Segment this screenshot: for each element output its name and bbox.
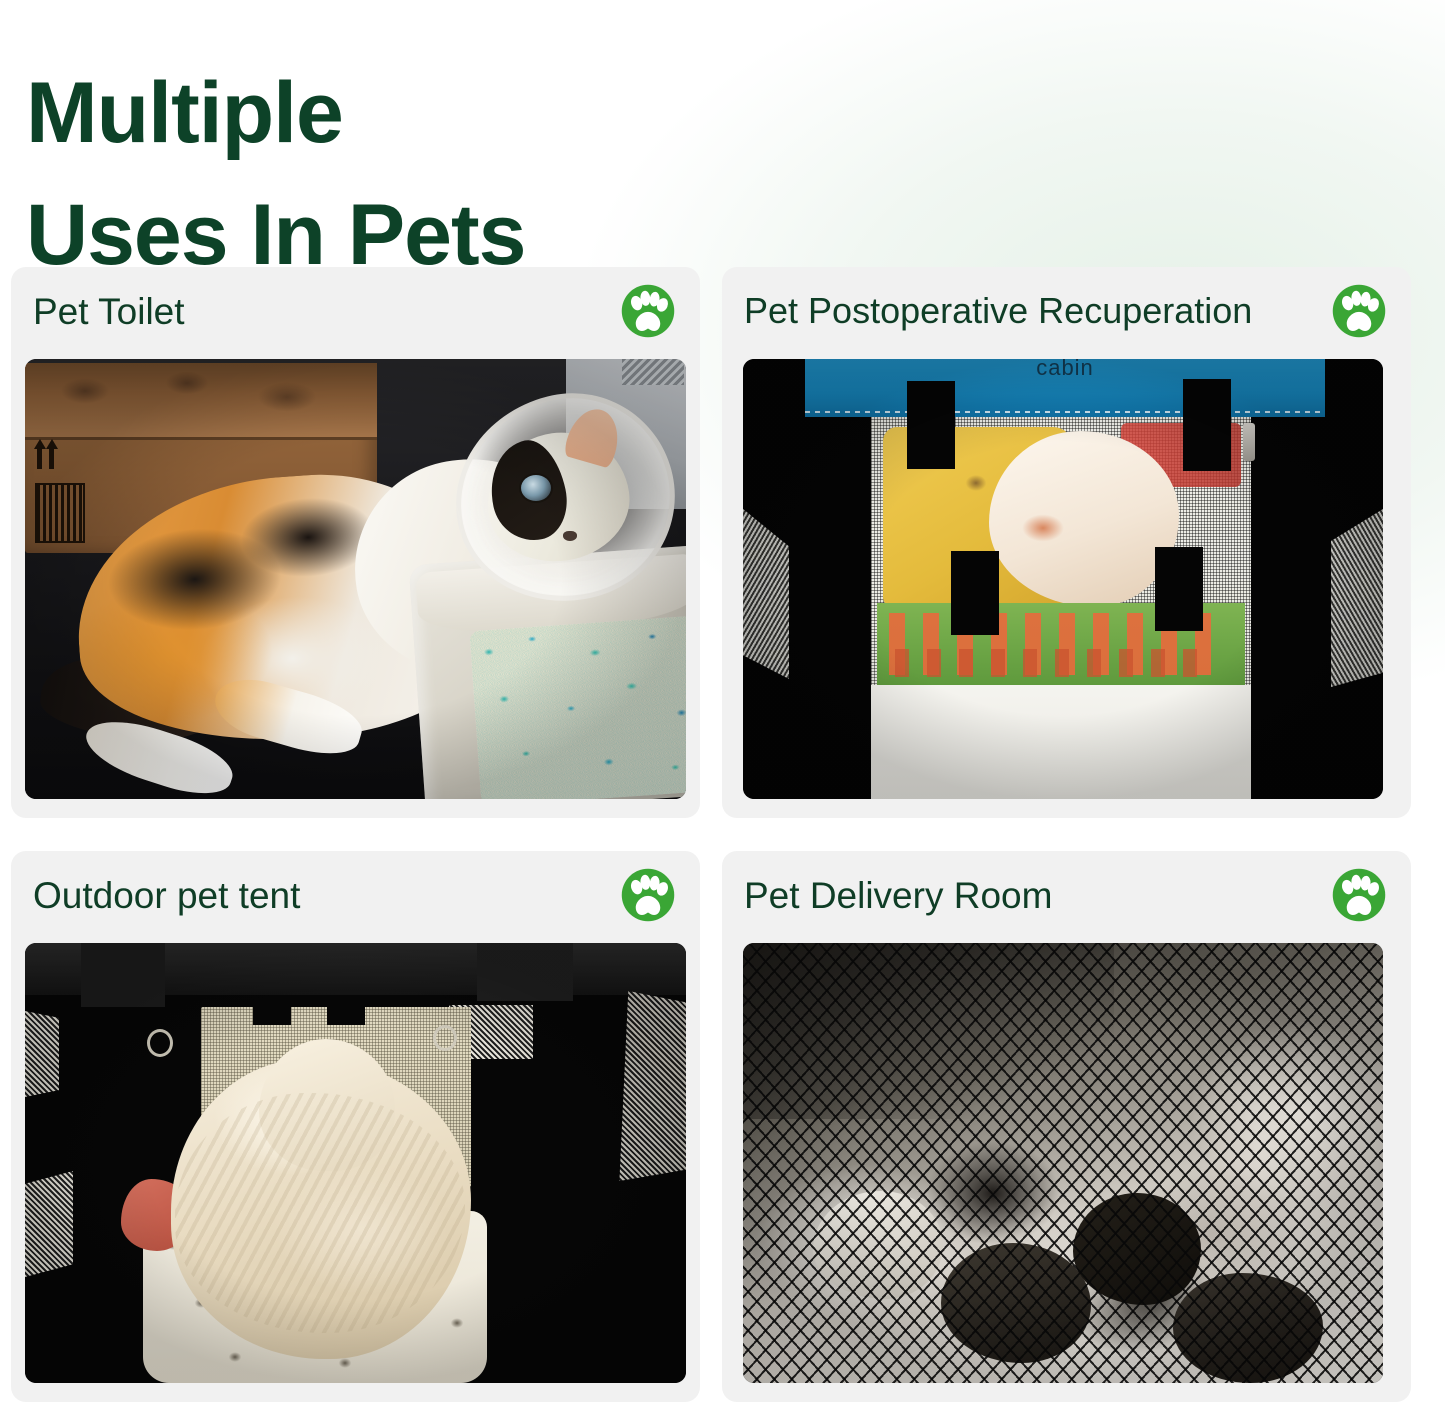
card-header: Pet Postoperative Recuperation xyxy=(722,267,1411,355)
barcode-label xyxy=(35,483,85,543)
product-feature-page: Multiple Uses In Pets Pet Toilet xyxy=(0,0,1445,1414)
tent-door-tab xyxy=(327,1007,365,1025)
card-title: Outdoor pet tent xyxy=(33,877,620,914)
stitching-line xyxy=(805,411,1325,413)
page-title: Multiple Uses In Pets xyxy=(26,52,786,296)
side-mesh-left xyxy=(743,509,789,679)
card-title: Pet Postoperative Recuperation xyxy=(744,293,1331,329)
feature-card-pet-toilet[interactable]: Pet Toilet xyxy=(11,267,700,818)
paw-print-icon xyxy=(1331,867,1387,923)
card-photo-outdoor-pet-tent xyxy=(25,943,686,1383)
paw-print-icon xyxy=(620,867,676,923)
carrier-strap xyxy=(951,551,999,635)
tent-side-mesh xyxy=(612,991,686,1181)
card-photo-pet-toilet xyxy=(25,359,686,799)
tent-top-strap xyxy=(81,943,165,1007)
card-photo-pet-delivery-room xyxy=(743,943,1383,1383)
tent-side-mesh xyxy=(25,1011,59,1097)
pet-marking xyxy=(1017,511,1069,545)
cat-eye xyxy=(521,475,551,501)
card-title: Pet Toilet xyxy=(33,293,620,330)
paw-print-icon xyxy=(620,283,676,339)
tent-top-strap xyxy=(477,943,573,1001)
diamond-mesh-screen xyxy=(743,943,1383,1383)
carrier-strap xyxy=(1183,379,1231,471)
this-side-up-arrows-icon xyxy=(37,439,63,469)
card-header: Pet Delivery Room xyxy=(722,851,1411,939)
tent-d-ring xyxy=(147,1029,173,1057)
page-title-line-1: Multiple xyxy=(26,65,343,161)
card-title: Pet Delivery Room xyxy=(744,877,1331,914)
carrier-strap xyxy=(907,381,955,469)
tent-door-tab xyxy=(253,1007,291,1025)
crystal-cat-litter xyxy=(469,615,686,799)
carrier-strap xyxy=(1155,547,1203,631)
white-cloth xyxy=(871,685,1251,799)
paw-print-icon xyxy=(1331,283,1387,339)
dog-fur-texture xyxy=(175,1093,465,1333)
cat-nose xyxy=(563,531,577,541)
tent-side-mesh xyxy=(25,1171,73,1277)
card-header: Pet Toilet xyxy=(11,267,700,355)
feature-card-pet-postoperative-recuperation[interactable]: Pet Postoperative Recuperation cabin xyxy=(722,267,1411,818)
card-photo-pet-postoperative-recuperation: cabin xyxy=(743,359,1383,799)
carrier-brand-text: cabin xyxy=(805,359,1325,381)
feature-card-outdoor-pet-tent[interactable]: Outdoor pet tent xyxy=(11,851,700,1402)
vent-grille xyxy=(622,359,684,385)
carrier-blue-top-panel: cabin xyxy=(805,359,1325,417)
feature-card-pet-delivery-room[interactable]: Pet Delivery Room xyxy=(722,851,1411,1402)
tent-d-ring xyxy=(433,1025,457,1051)
pattern-blocks-lower xyxy=(895,649,1215,677)
side-mesh-right xyxy=(1331,509,1383,687)
feature-card-grid: Pet Toilet xyxy=(11,267,1411,1402)
card-header: Outdoor pet tent xyxy=(11,851,700,939)
pet-marking-secondary xyxy=(963,473,989,493)
zipper-pull-icon xyxy=(1243,423,1255,461)
